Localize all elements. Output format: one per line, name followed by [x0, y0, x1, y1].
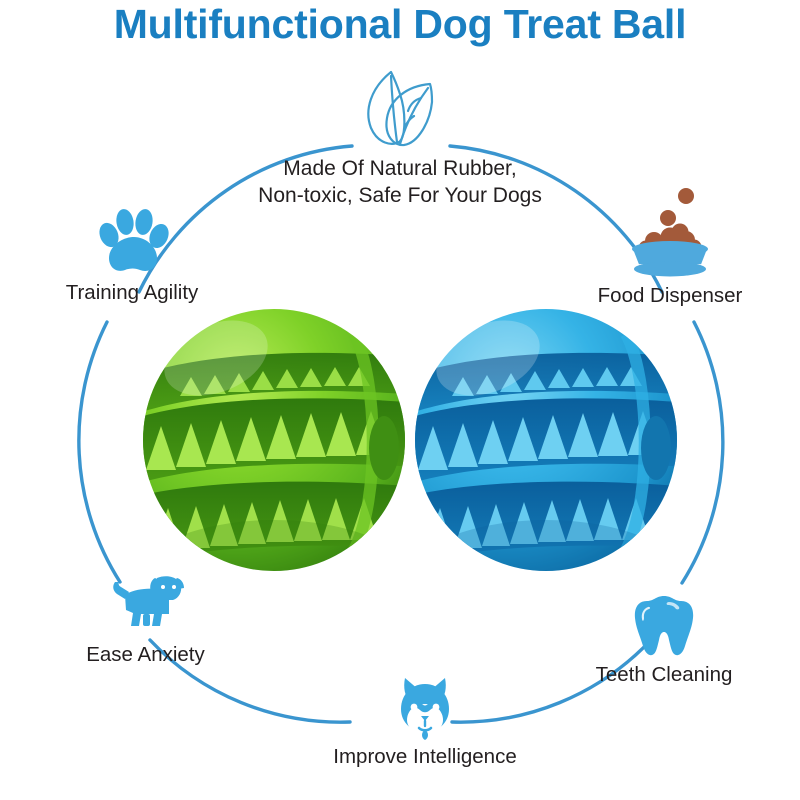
paw-print-icon-wrap [22, 206, 242, 278]
dog-food-bowl-icon-wrap [555, 185, 785, 281]
tooth-icon [628, 588, 700, 660]
feature-teeth-cleaning: Teeth Cleaning [548, 588, 780, 687]
feature-food-dispenser: Food Dispenser [555, 185, 785, 308]
product-image [140, 300, 680, 580]
green-dog-treat-ball [140, 300, 408, 580]
leaf-icon [344, 58, 456, 150]
feature-ease-anxiety-label: Ease Anxiety [38, 642, 253, 667]
ring-arc-left [79, 322, 120, 582]
feature-training-agility: Training Agility [22, 206, 242, 305]
dog-face-icon [389, 670, 461, 742]
feature-improve-intelligence-label: Improve Intelligence [290, 744, 560, 769]
page-title: Multifunctional Dog Treat Ball [0, 2, 800, 47]
feature-natural-rubber-label-line1: Made Of Natural Rubber, [180, 156, 620, 183]
dog-food-bowl-icon [610, 185, 730, 281]
blue-dog-treat-ball [412, 300, 680, 580]
tooth-icon-wrap [548, 588, 780, 660]
feature-improve-intelligence: Improve Intelligence [290, 670, 560, 769]
feature-natural-rubber: Made Of Natural Rubber, Non-toxic, Safe … [180, 58, 620, 210]
feature-natural-rubber-label-line2: Non-toxic, Safe For Your Dogs [180, 183, 620, 210]
paw-print-icon [94, 206, 170, 278]
leaf-icon-wrap [180, 58, 620, 150]
dog-face-icon-wrap [290, 670, 560, 742]
product-infographic: Multifunctional Dog Treat Ball [0, 0, 800, 800]
feature-natural-rubber-label: Made Of Natural Rubber, Non-toxic, Safe … [180, 156, 620, 210]
ring-arc-right [682, 322, 723, 583]
feature-teeth-cleaning-label: Teeth Cleaning [548, 662, 780, 687]
